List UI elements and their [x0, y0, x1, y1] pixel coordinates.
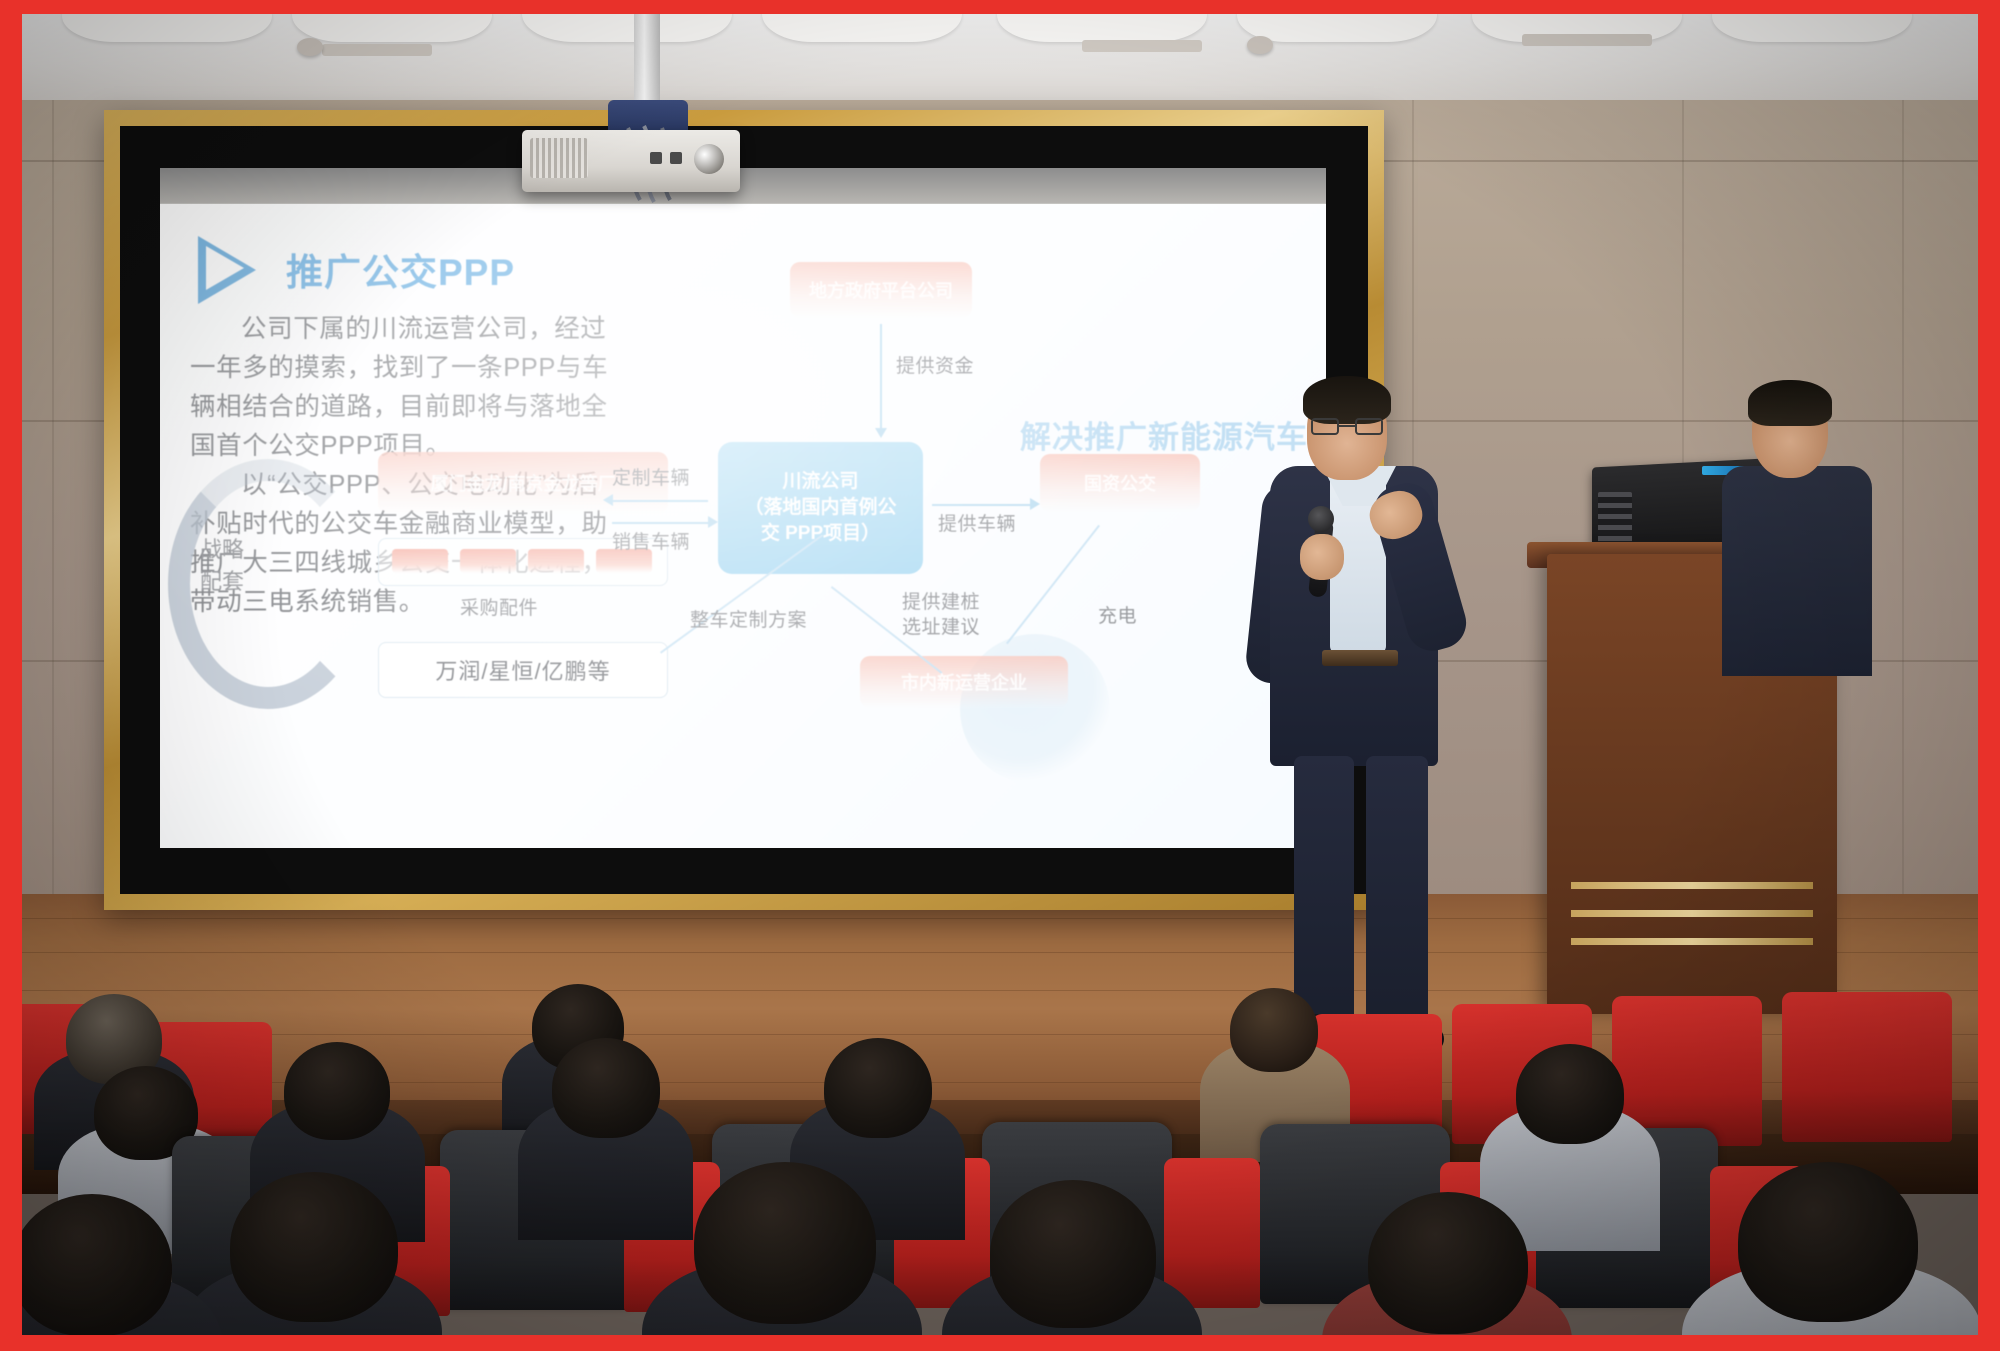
arrow-provide-vehicle-head	[1030, 498, 1040, 510]
attendee-head	[1738, 1162, 1918, 1322]
node-parts-suppliers: 万润/星恒/亿鹏等	[378, 642, 668, 698]
label-custom-vehicle: 定制车辆	[612, 466, 690, 491]
node-center-line2: （落地国内首例公	[744, 495, 896, 521]
play-triangle-inner-icon	[206, 246, 244, 290]
strategy-label-line2: 配套	[200, 566, 244, 598]
attendee-head	[1368, 1192, 1528, 1334]
attendee-head	[230, 1172, 398, 1322]
label-provide-fund: 提供资金	[896, 354, 974, 379]
screen-bezel: 推广公交PPP 公司下属的川流运营公司，经过一年多的摸索，找到了一条PPP与车辆…	[120, 126, 1368, 894]
ceiling	[22, 14, 1978, 104]
attendee-head	[824, 1038, 932, 1138]
slide-title: 推广公交PPP	[286, 242, 515, 296]
node-top-label: 地方政府平台公司	[790, 277, 972, 303]
projector-port-icon	[670, 152, 682, 164]
label-purchase-parts: 采购配件	[460, 596, 538, 621]
assistant-torso	[1722, 466, 1872, 676]
audience-seating-area	[22, 944, 1978, 1335]
arrow-provide-vehicle-line	[932, 504, 1032, 506]
photograph: 推广公交PPP 公司下属的川流运营公司，经过一年多的摸索，找到了一条PPP与车辆…	[22, 14, 1978, 1335]
strategy-cycle-arc-icon	[168, 459, 368, 709]
attendee-head	[990, 1180, 1156, 1328]
arrow-custom-vehicle-head	[603, 494, 613, 506]
microphone-head-icon	[1308, 506, 1334, 532]
arrow-charging-line	[1006, 525, 1100, 644]
node-center-chuanliu: 川流公司 （落地国内首例公 交 PPP项目）	[718, 442, 923, 574]
projector-vent-icon	[530, 138, 588, 178]
smoke-detector-icon	[1247, 36, 1273, 54]
arrow-fund-line	[880, 324, 882, 430]
strategy-label: 战略 配套	[200, 534, 244, 598]
arrow-sell-vehicle-head	[708, 516, 718, 528]
projector-pole	[634, 14, 660, 106]
label-sell-vehicle: 销售车辆	[612, 530, 690, 555]
speaker-belt	[1322, 650, 1398, 666]
projector-port-icon	[650, 152, 662, 164]
photo-red-border: 推广公交PPP 公司下属的川流运营公司，经过一年多的摸索，找到了一条PPP与车辆…	[0, 0, 2000, 1351]
slide-paragraph-1: 公司下属的川流运营公司，经过一年多的摸索，找到了一条PPP与车辆相结合的道路，目…	[190, 310, 610, 466]
part-chip	[528, 549, 584, 573]
projector-lens-icon	[694, 144, 724, 174]
presentation-slide: 推广公交PPP 公司下属的川流运营公司，经过一年多的摸索，找到了一条PPP与车辆…	[160, 204, 1326, 848]
arrow-custom-vehicle-line	[612, 500, 708, 502]
node-top: 地方政府平台公司	[790, 262, 972, 318]
attendee-head	[22, 1194, 172, 1335]
attendee-head	[1516, 1044, 1624, 1144]
part-chip	[392, 549, 448, 573]
attendee-head	[284, 1042, 390, 1140]
seat	[1782, 992, 1952, 1142]
speaker-glasses-icon	[1311, 418, 1383, 435]
node-right-label: 国资公交	[1040, 470, 1200, 496]
assistant-hair	[1748, 380, 1832, 426]
attendee-head	[694, 1162, 876, 1324]
slide-headline-right: 解决推广新能源汽车难题	[1020, 412, 1326, 457]
label-charging-advice-line2: 选址建议	[902, 615, 980, 640]
label-provide-vehicle: 提供车辆	[938, 512, 1016, 537]
arrow-sell-vehicle-line	[612, 522, 708, 524]
label-whole-vehicle-plan: 整车定制方案	[690, 608, 807, 633]
node-right: 国资公交	[1040, 454, 1200, 512]
seat	[1164, 1158, 1260, 1308]
projection-screen-surface: 推广公交PPP 公司下属的川流运营公司，经过一年多的摸索，找到了一条PPP与车辆…	[160, 168, 1326, 848]
label-charging-advice-line1: 提供建桩	[902, 590, 980, 615]
lectern-gold-stripe	[1571, 910, 1813, 917]
attendee-head	[552, 1038, 660, 1138]
projection-screen-frame: 推广公交PPP 公司下属的川流运营公司，经过一年多的摸索，找到了一条PPP与车辆…	[104, 110, 1384, 910]
part-chip	[460, 549, 516, 573]
node-bottom-label: 市内新运营企业	[860, 669, 1068, 695]
ceiling-projector	[522, 130, 740, 192]
smoke-detector-icon	[297, 38, 323, 56]
lectern-gold-stripe	[1571, 882, 1813, 889]
screen-top-band	[160, 168, 1326, 204]
node-parts-suppliers-label: 万润/星恒/亿鹏等	[435, 654, 610, 686]
node-center-line1: 川流公司	[782, 469, 858, 495]
strategy-label-line1: 战略	[200, 534, 244, 566]
arrow-fund-head	[875, 428, 887, 438]
speaker-left-hand	[1300, 534, 1344, 580]
label-charging-advice: 提供建桩 选址建议	[902, 590, 980, 640]
label-charging: 充电	[1098, 604, 1137, 629]
attendee-head	[1230, 988, 1318, 1072]
node-bottom: 市内新运营企业	[860, 656, 1068, 708]
speaker-hair	[1303, 376, 1391, 424]
